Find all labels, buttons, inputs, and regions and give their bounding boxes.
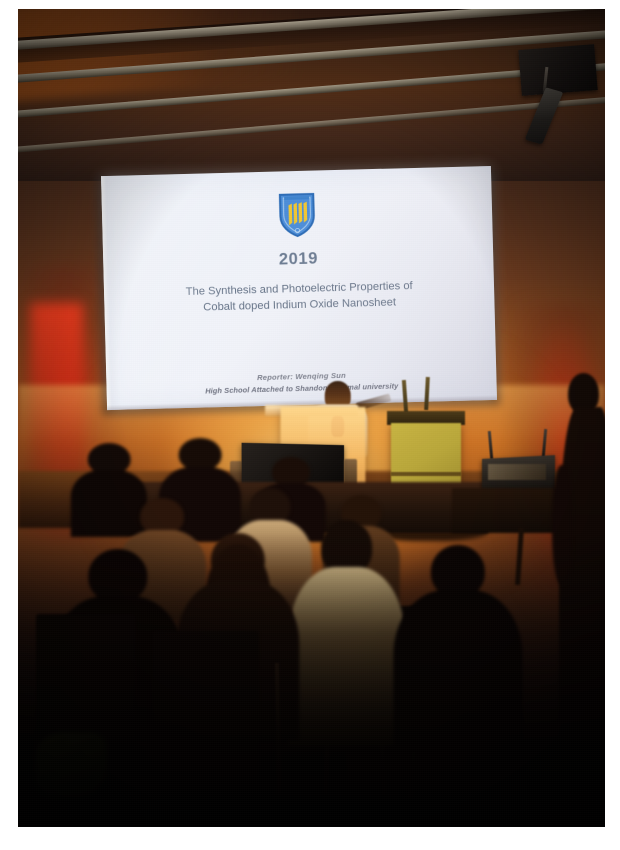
school-crest-shield-icon bbox=[276, 191, 317, 239]
projection-screen-area: 2019 The Synthesis and Photoelectric Pro… bbox=[101, 166, 497, 410]
slide-year: 2019 bbox=[278, 249, 318, 269]
photo-page: 2019 The Synthesis and Photoelectric Pro… bbox=[0, 0, 620, 850]
projector-box-icon bbox=[518, 44, 598, 96]
foreground-darkness bbox=[18, 533, 605, 827]
slide-footer: Reporter: Wenqing Sun High School Attach… bbox=[106, 367, 497, 398]
conference-photograph: 2019 The Synthesis and Photoelectric Pro… bbox=[18, 9, 605, 827]
audience-head bbox=[179, 438, 222, 471]
mixer-control-panel bbox=[488, 464, 547, 480]
slide-title: The Synthesis and Photoelectric Properti… bbox=[135, 278, 464, 318]
projection-screen: 2019 The Synthesis and Photoelectric Pro… bbox=[101, 166, 497, 410]
audience-head bbox=[272, 457, 310, 486]
amplifier-divider bbox=[391, 472, 461, 476]
presentation-slide: 2019 The Synthesis and Photoelectric Pro… bbox=[101, 166, 497, 410]
